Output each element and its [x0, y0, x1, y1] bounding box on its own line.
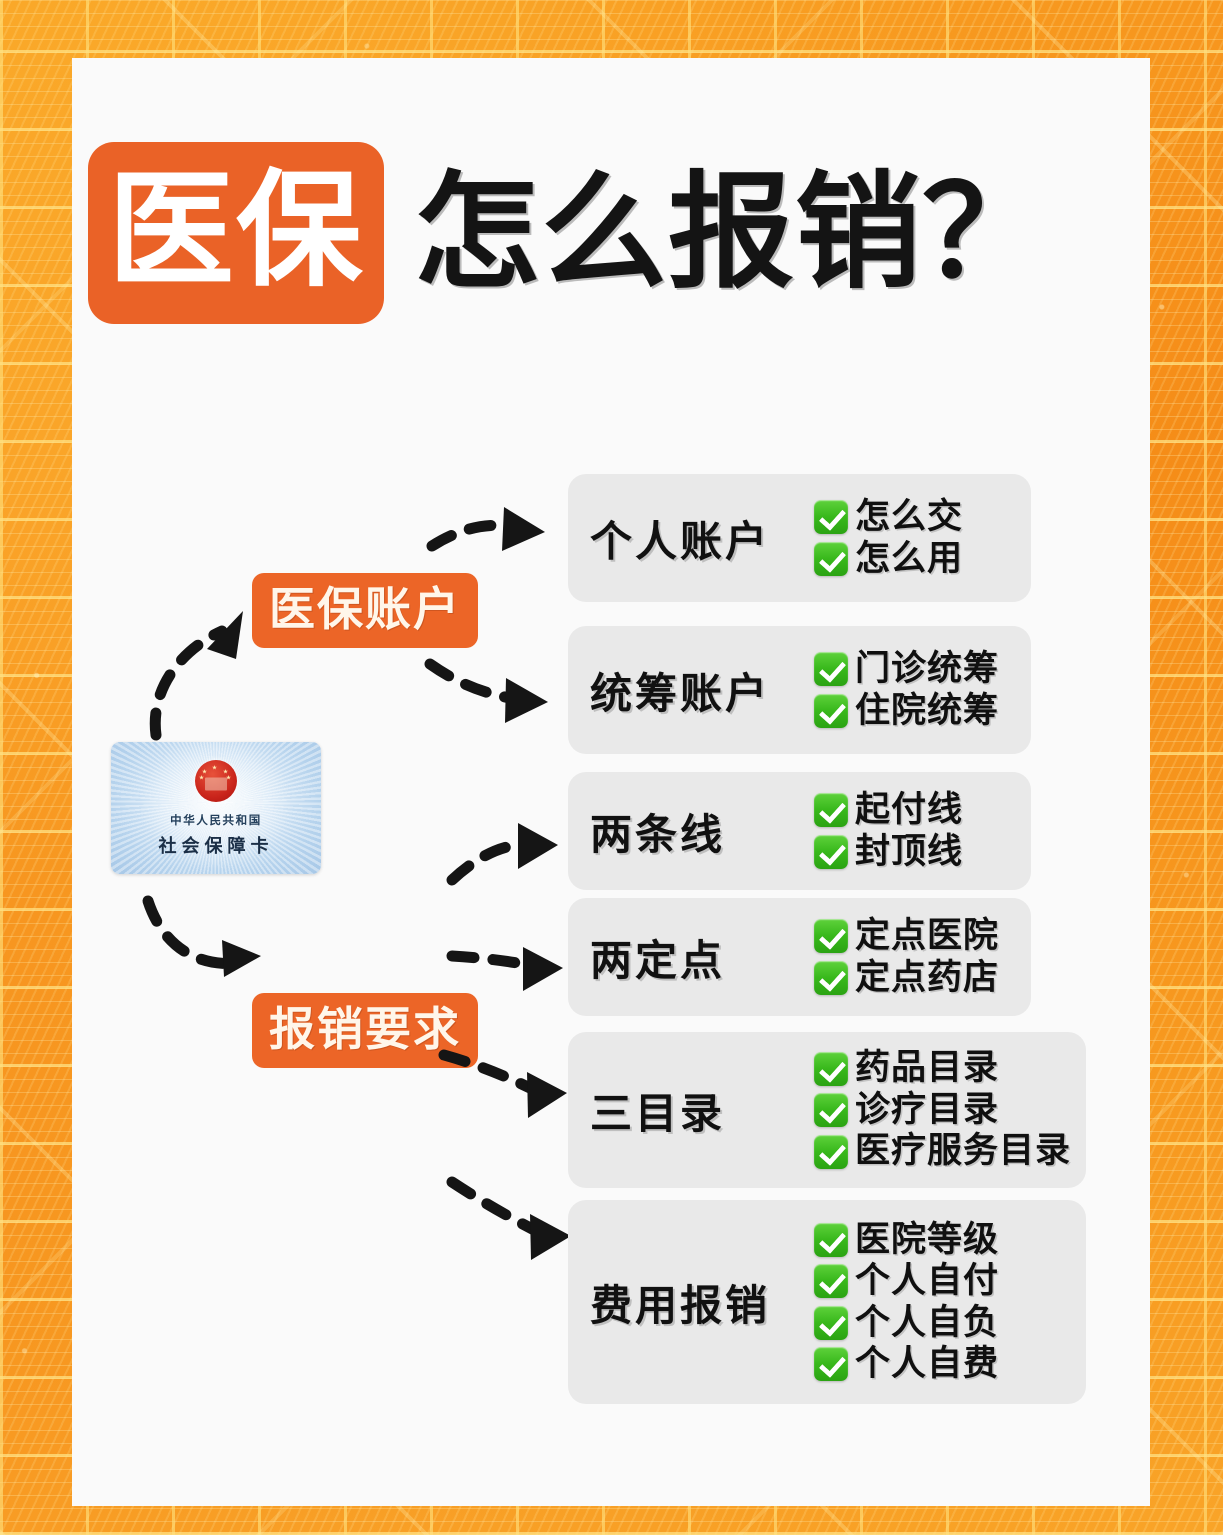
check-icon [814, 1264, 848, 1298]
list-item: 怎么用 [814, 540, 963, 579]
title-rest-text: 怎么报销？ [414, 170, 1049, 296]
emblem-gate [205, 777, 227, 790]
info-card-two-lines[interactable]: 两条线 起付线 封顶线 [568, 772, 1031, 890]
list-item: 起付线 [814, 791, 963, 830]
list-item: 住院统筹 [814, 692, 999, 731]
list-item-label: 定点药店 [855, 959, 999, 998]
list-item: 药品目录 [814, 1049, 1071, 1088]
list-item: 定点药店 [814, 959, 999, 998]
card-title: 两定点 [590, 927, 814, 988]
list-item-label: 住院统筹 [855, 692, 999, 731]
check-icon [814, 694, 848, 728]
list-item-label: 药品目录 [855, 1049, 999, 1088]
check-icon [814, 1052, 848, 1086]
check-icon [814, 1223, 848, 1257]
list-item-label: 定点医院 [855, 917, 999, 956]
card-country-line: 中华人民共和国 [111, 812, 321, 828]
list-item: 怎么交 [814, 498, 963, 537]
list-item: 个人自付 [814, 1262, 999, 1301]
check-icon [814, 1306, 848, 1340]
list-item: 诊疗目录 [814, 1091, 1071, 1130]
card-title: 两条线 [590, 801, 814, 862]
card-item-list: 医院等级 个人自付 个人自负 个人自费 [814, 1221, 999, 1384]
china-national-emblem-icon [193, 758, 239, 804]
card-item-list: 怎么交 怎么用 [814, 498, 963, 578]
card-title: 个人账户 [590, 508, 814, 569]
card-title: 统筹账户 [590, 660, 814, 721]
list-item-label: 医院等级 [855, 1221, 999, 1260]
social-security-card-image: 中华人民共和国 社会保障卡 [111, 742, 321, 874]
card-item-list: 门诊统筹 住院统筹 [814, 650, 999, 730]
card-title: 费用报销 [590, 1272, 814, 1333]
list-item-label: 医疗服务目录 [855, 1132, 1071, 1171]
group-label-medical-account: 医保账户 [252, 573, 478, 648]
check-icon [814, 919, 848, 953]
card-name-line: 社会保障卡 [111, 832, 321, 858]
info-card-expense-reimbursement[interactable]: 费用报销 医院等级 个人自付 个人自负 个人自费 [568, 1200, 1086, 1404]
card-item-list: 起付线 封顶线 [814, 791, 963, 871]
title-badge-medical-insurance: 医保 [88, 142, 384, 324]
list-item: 定点医院 [814, 917, 999, 956]
card-title: 三目录 [590, 1080, 814, 1141]
info-card-personal-account[interactable]: 个人账户 怎么交 怎么用 [568, 474, 1031, 602]
list-item-label: 怎么用 [855, 540, 963, 579]
list-item-label: 个人自负 [855, 1304, 999, 1343]
card-item-list: 药品目录 诊疗目录 医疗服务目录 [814, 1049, 1071, 1171]
info-card-pooled-account[interactable]: 统筹账户 门诊统筹 住院统筹 [568, 626, 1031, 754]
check-icon [814, 1347, 848, 1381]
list-item-label: 个人自费 [855, 1345, 999, 1384]
check-icon [814, 500, 848, 534]
info-card-three-catalogs[interactable]: 三目录 药品目录 诊疗目录 医疗服务目录 [568, 1032, 1086, 1188]
list-item-label: 起付线 [855, 791, 963, 830]
list-item: 医疗服务目录 [814, 1132, 1071, 1171]
card-item-list: 定点医院 定点药店 [814, 917, 999, 997]
list-item-label: 封顶线 [855, 833, 963, 872]
page-title: 医保 怎么报销？ [88, 142, 1049, 324]
list-item: 个人自费 [814, 1345, 999, 1384]
list-item: 医院等级 [814, 1221, 999, 1260]
list-item-label: 个人自付 [855, 1262, 999, 1301]
group-label-reimbursement-requirements: 报销要求 [252, 993, 478, 1068]
list-item-label: 怎么交 [855, 498, 963, 537]
check-icon [814, 793, 848, 827]
list-item: 个人自负 [814, 1304, 999, 1343]
check-icon [814, 1093, 848, 1127]
list-item: 门诊统筹 [814, 650, 999, 689]
list-item-label: 门诊统筹 [855, 650, 999, 689]
check-icon [814, 1135, 848, 1169]
list-item: 封顶线 [814, 833, 963, 872]
poster-canvas: 医保 怎么报销？ 中华人民共和国 社会保障卡 医保账户 报销要求 [0, 0, 1223, 1535]
list-item-label: 诊疗目录 [855, 1091, 999, 1130]
check-icon [814, 961, 848, 995]
check-icon [814, 835, 848, 869]
check-icon [814, 652, 848, 686]
info-card-two-designated[interactable]: 两定点 定点医院 定点药店 [568, 898, 1031, 1016]
check-icon [814, 542, 848, 576]
